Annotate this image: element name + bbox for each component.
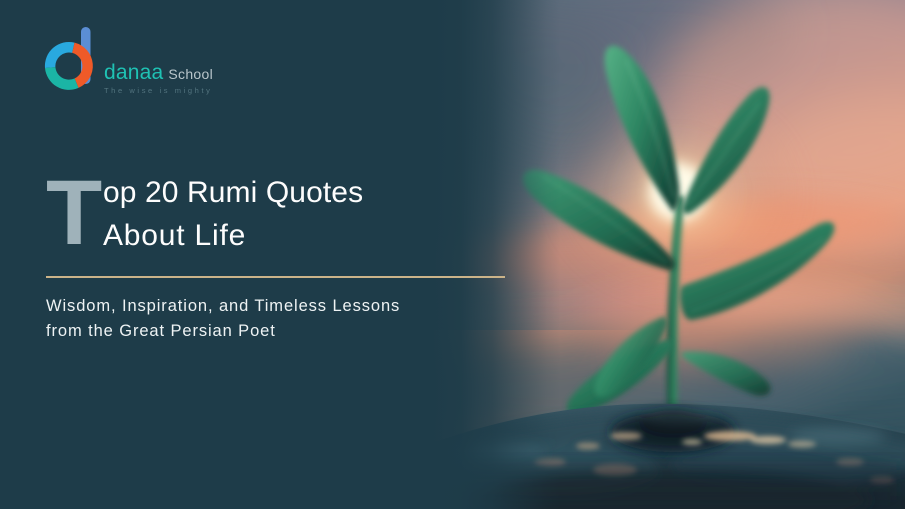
subtitle-line-1: Wisdom, Inspiration, and Timeless Lesson… (46, 294, 516, 319)
logo-brand-suffix: School (168, 66, 213, 82)
title-line-2: About Life (103, 215, 506, 258)
subtitle-line-2: from the Great Persian Poet (46, 319, 516, 344)
subtitle: Wisdom, Inspiration, and Timeless Lesson… (46, 294, 516, 344)
presentation-slide: danaaSchool The wise is mighty T op 20 R… (0, 0, 905, 509)
logo-tagline: The wise is mighty (104, 87, 254, 95)
title-divider-rule (46, 276, 505, 278)
logo-brand-line: danaaSchool (104, 62, 254, 83)
title-line-1: op 20 Rumi Quotes (103, 172, 506, 215)
page-title: T op 20 Rumi Quotes About Life (46, 172, 506, 257)
title-text: op 20 Rumi Quotes About Life (103, 172, 506, 257)
title-dropcap: T (46, 178, 101, 250)
danaa-donut-logo-mark (44, 26, 106, 92)
logo-wordmark: danaaSchool The wise is mighty (104, 62, 254, 95)
danaa-school-logo[interactable]: danaaSchool The wise is mighty (44, 16, 254, 104)
logo-brand-name: danaa (104, 61, 163, 84)
